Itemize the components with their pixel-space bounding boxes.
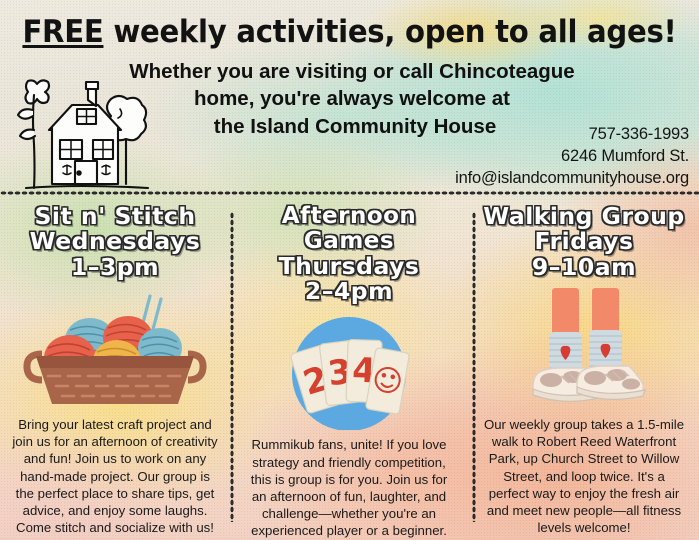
activity-description: Our weekly group takes a 1.5-mile walk t… (469, 416, 699, 536)
legs (552, 288, 619, 336)
activity-artwork (0, 288, 230, 406)
yarn-basket-icon (0, 288, 230, 406)
activity-heading: Sit n' Stitch Wednesdays 1–3pm (0, 198, 230, 280)
phone-number[interactable]: 757-336-1993 (259, 124, 689, 146)
rummikub-tiles-icon: 2 3 4 (234, 312, 464, 430)
activity-time: 1–3pm (0, 255, 230, 280)
activity-title: Walking Group (469, 204, 699, 229)
walking-legs-sneakers-icon (469, 288, 699, 406)
activity-heading: Walking Group Fridays 9–10am (469, 198, 699, 280)
horizontal-dotted-divider (0, 191, 699, 195)
activity-time: 2–4pm (234, 279, 464, 304)
activity-description: Bring your latest craft project and join… (0, 416, 230, 536)
activity-title: Afternoon Games (234, 204, 464, 254)
header-section: FREE weekly activities, open to all ages… (0, 0, 699, 194)
subtitle-line-1: Whether you are visiting or call Chincot… (129, 60, 574, 83)
page-title: FREE weekly activities, open to all ages… (21, 14, 678, 50)
basket-shape (27, 354, 203, 404)
title-rest: weekly activities, open to all ages! (103, 14, 676, 50)
activity-description: Rummikub fans, unite! If you love strate… (234, 436, 464, 540)
activity-day: Fridays (469, 229, 699, 254)
activity-day: Wednesdays (0, 229, 230, 254)
activity-column-walking-group: Walking Group Fridays 9–10am (469, 198, 699, 540)
street-address: 6246 Mumford St. (259, 146, 689, 168)
activity-artwork (469, 288, 699, 406)
title-free-word: FREE (22, 14, 103, 50)
activity-time: 9–10am (469, 255, 699, 280)
contact-info: 757-336-1993 6246 Mumford St. info@islan… (259, 124, 689, 189)
activity-column-afternoon-games: Afternoon Games Thursdays 2–4pm 2 3 (234, 198, 464, 540)
activity-artwork: 2 3 4 (234, 312, 464, 430)
flower-icon (18, 80, 49, 188)
poster-flyer: FREE weekly activities, open to all ages… (0, 0, 699, 540)
activity-column-sit-n-stitch: Sit n' Stitch Wednesdays 1–3pm (0, 198, 230, 540)
activity-day: Thursdays (234, 254, 464, 279)
email-address[interactable]: info@islandcommunityhouse.org (259, 168, 689, 190)
house-doodle-illustration (8, 48, 158, 193)
activity-heading: Afternoon Games Thursdays 2–4pm (234, 198, 464, 304)
sneakers (533, 366, 645, 401)
activity-title: Sit n' Stitch (0, 204, 230, 229)
subtitle-line-2: home, you're always welcome at (194, 87, 510, 110)
